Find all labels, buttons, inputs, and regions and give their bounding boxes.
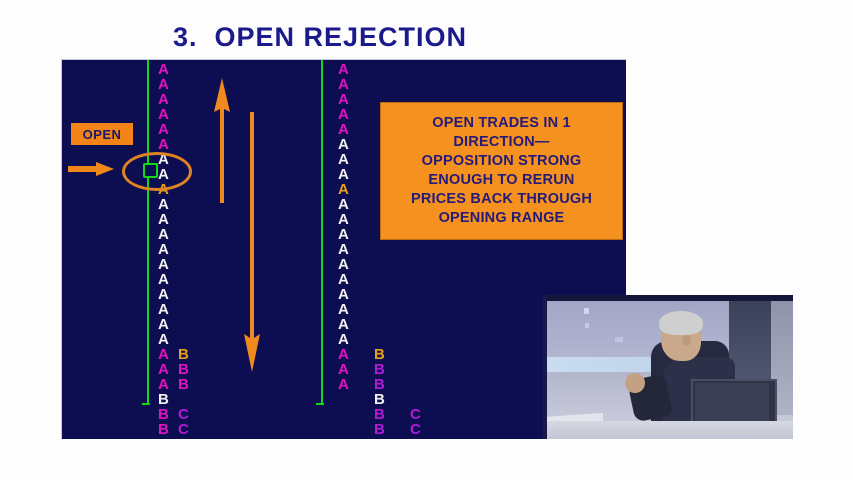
profile-letter-a: A — [338, 332, 349, 347]
profile-letter-a: A — [158, 377, 169, 392]
profile-letter-a: A — [158, 62, 169, 77]
profile-letter-a: A — [338, 137, 349, 152]
profile-letter-c: C — [178, 422, 189, 437]
profile-letter-a: A — [338, 92, 349, 107]
profile-letter-a: A — [338, 272, 349, 287]
profile-letter-a: A — [158, 212, 169, 227]
screen-highlight-3 — [615, 337, 623, 342]
profile-letter-a: A — [158, 77, 169, 92]
profile-letter-a: A — [158, 107, 169, 122]
profile-letter-a: A — [158, 242, 169, 257]
profile-letter-a: A — [158, 122, 169, 137]
profile-letter-a: A — [338, 287, 349, 302]
profile-letter-a: A — [158, 227, 169, 242]
profile-letter-a: A — [338, 227, 349, 242]
profile-letter-b: B — [178, 377, 189, 392]
profile-letter-a: A — [338, 257, 349, 272]
down-arrow-icon — [242, 112, 262, 372]
desk-surface — [543, 421, 793, 439]
profile-letter-b: B — [374, 407, 385, 422]
profile-letter-b: B — [374, 347, 385, 362]
profile-letter-a: A — [338, 347, 349, 362]
profile-letter-a: A — [338, 77, 349, 92]
open-range-line-left — [147, 60, 149, 405]
video-left-border — [543, 295, 547, 439]
up-arrow-icon — [212, 78, 232, 203]
callout-text: OPEN TRADES IN 1 DIRECTION— OPPOSITION S… — [411, 114, 592, 228]
presenter-hand — [625, 373, 645, 393]
open-label-text: OPEN — [83, 127, 122, 142]
profile-letter-b: B — [374, 362, 385, 377]
profile-letter-a: A — [338, 317, 349, 332]
profile-letter-a: A — [338, 167, 349, 182]
profile-letter-a: A — [158, 332, 169, 347]
open-range-line-right — [321, 60, 323, 405]
profile-letter-a: A — [338, 197, 349, 212]
profile-letter-a: A — [158, 272, 169, 287]
profile-letter-a: A — [158, 362, 169, 377]
open-label-badge: OPEN — [71, 123, 133, 145]
profile-letter-a: A — [158, 92, 169, 107]
page-title: 3. OPEN REJECTION — [0, 22, 640, 53]
screenshot-root: 3. OPEN REJECTION AAAAAAAAAAAAAAAAAAAABA… — [0, 0, 853, 480]
profile-letter-b: B — [158, 437, 169, 439]
profile-letter-a: A — [158, 257, 169, 272]
screen-highlight-1 — [584, 308, 589, 314]
profile-letter-a: A — [338, 62, 349, 77]
slide-canvas: AAAAAAAAAAAAAAAAAAAABABABBBCBCBCBCDEFCDE… — [61, 59, 626, 439]
profile-letter-a: A — [158, 197, 169, 212]
profile-letter-a: A — [158, 302, 169, 317]
profile-letter-c: C — [410, 437, 421, 439]
profile-letter-b: B — [374, 377, 385, 392]
callout-box: OPEN TRADES IN 1 DIRECTION— OPPOSITION S… — [380, 102, 623, 240]
profile-letter-b: B — [374, 437, 385, 439]
profile-letter-b: B — [158, 407, 169, 422]
presenter-ear — [682, 335, 691, 346]
profile-letter-a: A — [158, 287, 169, 302]
profile-letter-a: A — [338, 302, 349, 317]
profile-letter-c: C — [178, 407, 189, 422]
video-top-border — [543, 295, 793, 301]
profile-letter-c: C — [178, 437, 189, 439]
open-range-line-left-foot — [142, 403, 150, 405]
profile-letter-c: C — [410, 407, 421, 422]
screen-highlight-2 — [585, 323, 589, 328]
open-node-marker — [143, 163, 158, 178]
profile-letter-b: B — [374, 422, 385, 437]
presenter-hair — [659, 311, 703, 335]
profile-letter-b: B — [158, 422, 169, 437]
profile-letter-c: C — [410, 422, 421, 437]
profile-letter-a: A — [158, 347, 169, 362]
profile-letter-a: A — [338, 152, 349, 167]
profile-letter-b: B — [178, 362, 189, 377]
presenter-video-inset[interactable] — [543, 295, 793, 439]
open-range-line-right-foot — [316, 403, 324, 405]
profile-letter-a: A — [338, 242, 349, 257]
profile-letter-a: A — [338, 377, 349, 392]
profile-letter-b: B — [374, 392, 385, 407]
profile-letter-b: B — [158, 392, 169, 407]
profile-letter-a: A — [338, 182, 349, 197]
profile-letter-a: A — [338, 107, 349, 122]
profile-letter-b: B — [178, 347, 189, 362]
profile-letter-a: A — [158, 137, 169, 152]
profile-letter-a: A — [338, 212, 349, 227]
profile-letter-a: A — [338, 362, 349, 377]
open-pointer-arrow-icon — [68, 162, 114, 176]
profile-letter-a: A — [158, 317, 169, 332]
profile-letter-a: A — [338, 122, 349, 137]
